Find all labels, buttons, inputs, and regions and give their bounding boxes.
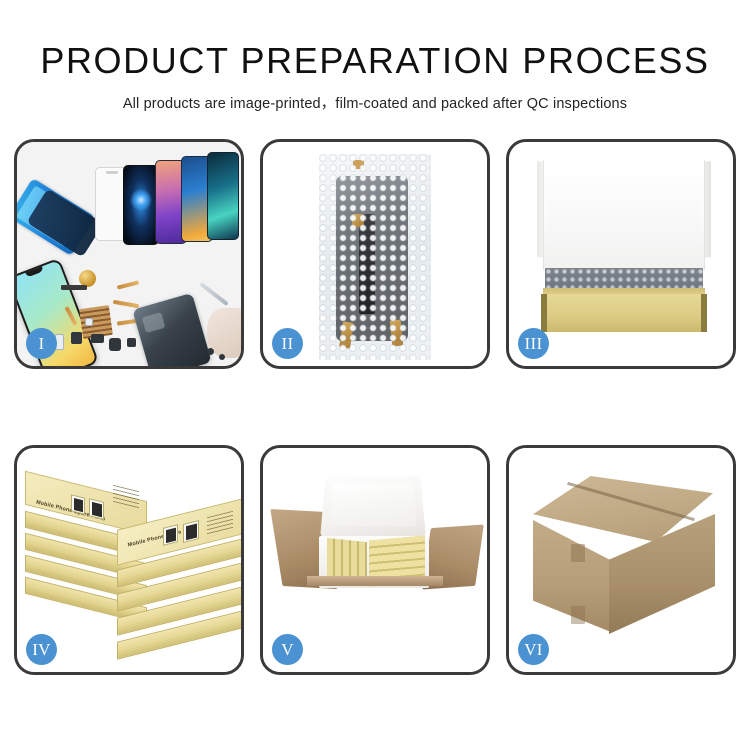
process-step-panel-4[interactable]: Mobile Phone Spare Parts Mobile Phone Sp… <box>14 445 244 675</box>
carton-front-panel <box>307 582 443 636</box>
step-badge-2: II <box>272 328 303 359</box>
step-badge-6: VI <box>518 634 549 665</box>
carton-tape-patch-upper <box>571 544 585 562</box>
step-badge-5: V <box>272 634 303 665</box>
bubble-texture <box>319 154 431 360</box>
page-header: PRODUCT PREPARATION PROCESS All products… <box>0 0 750 113</box>
white-foam-sheet <box>549 184 699 266</box>
yellow-box-front <box>541 294 707 332</box>
process-step-panel-3[interactable]: III <box>506 139 736 369</box>
process-step-panel-2[interactable]: II <box>260 139 490 369</box>
phone-nebula-wallpaper <box>123 165 159 245</box>
step-badge-1: I <box>26 328 57 359</box>
step-badge-3: III <box>518 328 549 359</box>
step-badge-4: IV <box>26 634 57 665</box>
foam-box-lid <box>320 476 426 536</box>
process-step-panel-5[interactable]: V <box>260 445 490 675</box>
process-step-grid: I II III <box>14 139 736 675</box>
bubble-wrap-bag <box>319 154 431 360</box>
carton-tape-patch-lower <box>571 606 585 624</box>
page-title: PRODUCT PREPARATION PROCESS <box>0 42 750 80</box>
phone-teal-display <box>207 152 239 240</box>
process-step-panel-1[interactable]: I <box>14 139 244 369</box>
page-subtitle: All products are image-printed，film-coat… <box>0 92 750 113</box>
process-step-panel-6[interactable]: VI <box>506 445 736 675</box>
